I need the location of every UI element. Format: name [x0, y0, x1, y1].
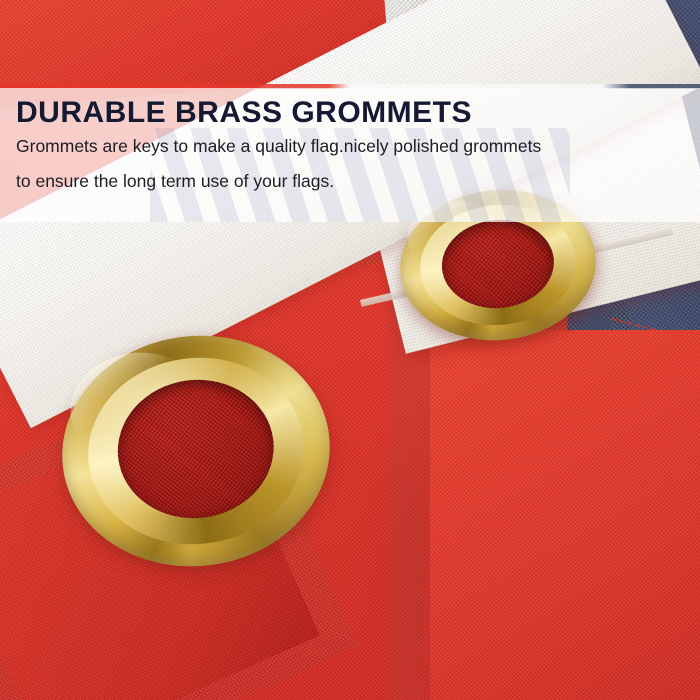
page-title: DURABLE BRASS GROMMETS	[16, 96, 686, 129]
description-line-1: Grommets are keys to make a quality flag…	[16, 138, 686, 156]
banner-content: DURABLE BRASS GROMMETS Grommets are keys…	[0, 88, 700, 190]
grommet-small-hole-fabric	[438, 215, 557, 312]
grommet-small-hole	[438, 215, 557, 312]
grommet-large-hole-fabric	[110, 371, 282, 527]
brass-grommet-large	[49, 321, 343, 582]
product-image: DURABLE BRASS GROMMETS Grommets are keys…	[0, 0, 700, 700]
red-fabric-lower-right	[430, 330, 700, 700]
text-banner: DURABLE BRASS GROMMETS Grommets are keys…	[0, 88, 700, 222]
grommet-large-hole	[110, 371, 282, 527]
red-lower-right-texture	[388, 288, 700, 700]
description-line-2: to ensure the long term use of your flag…	[16, 173, 686, 191]
